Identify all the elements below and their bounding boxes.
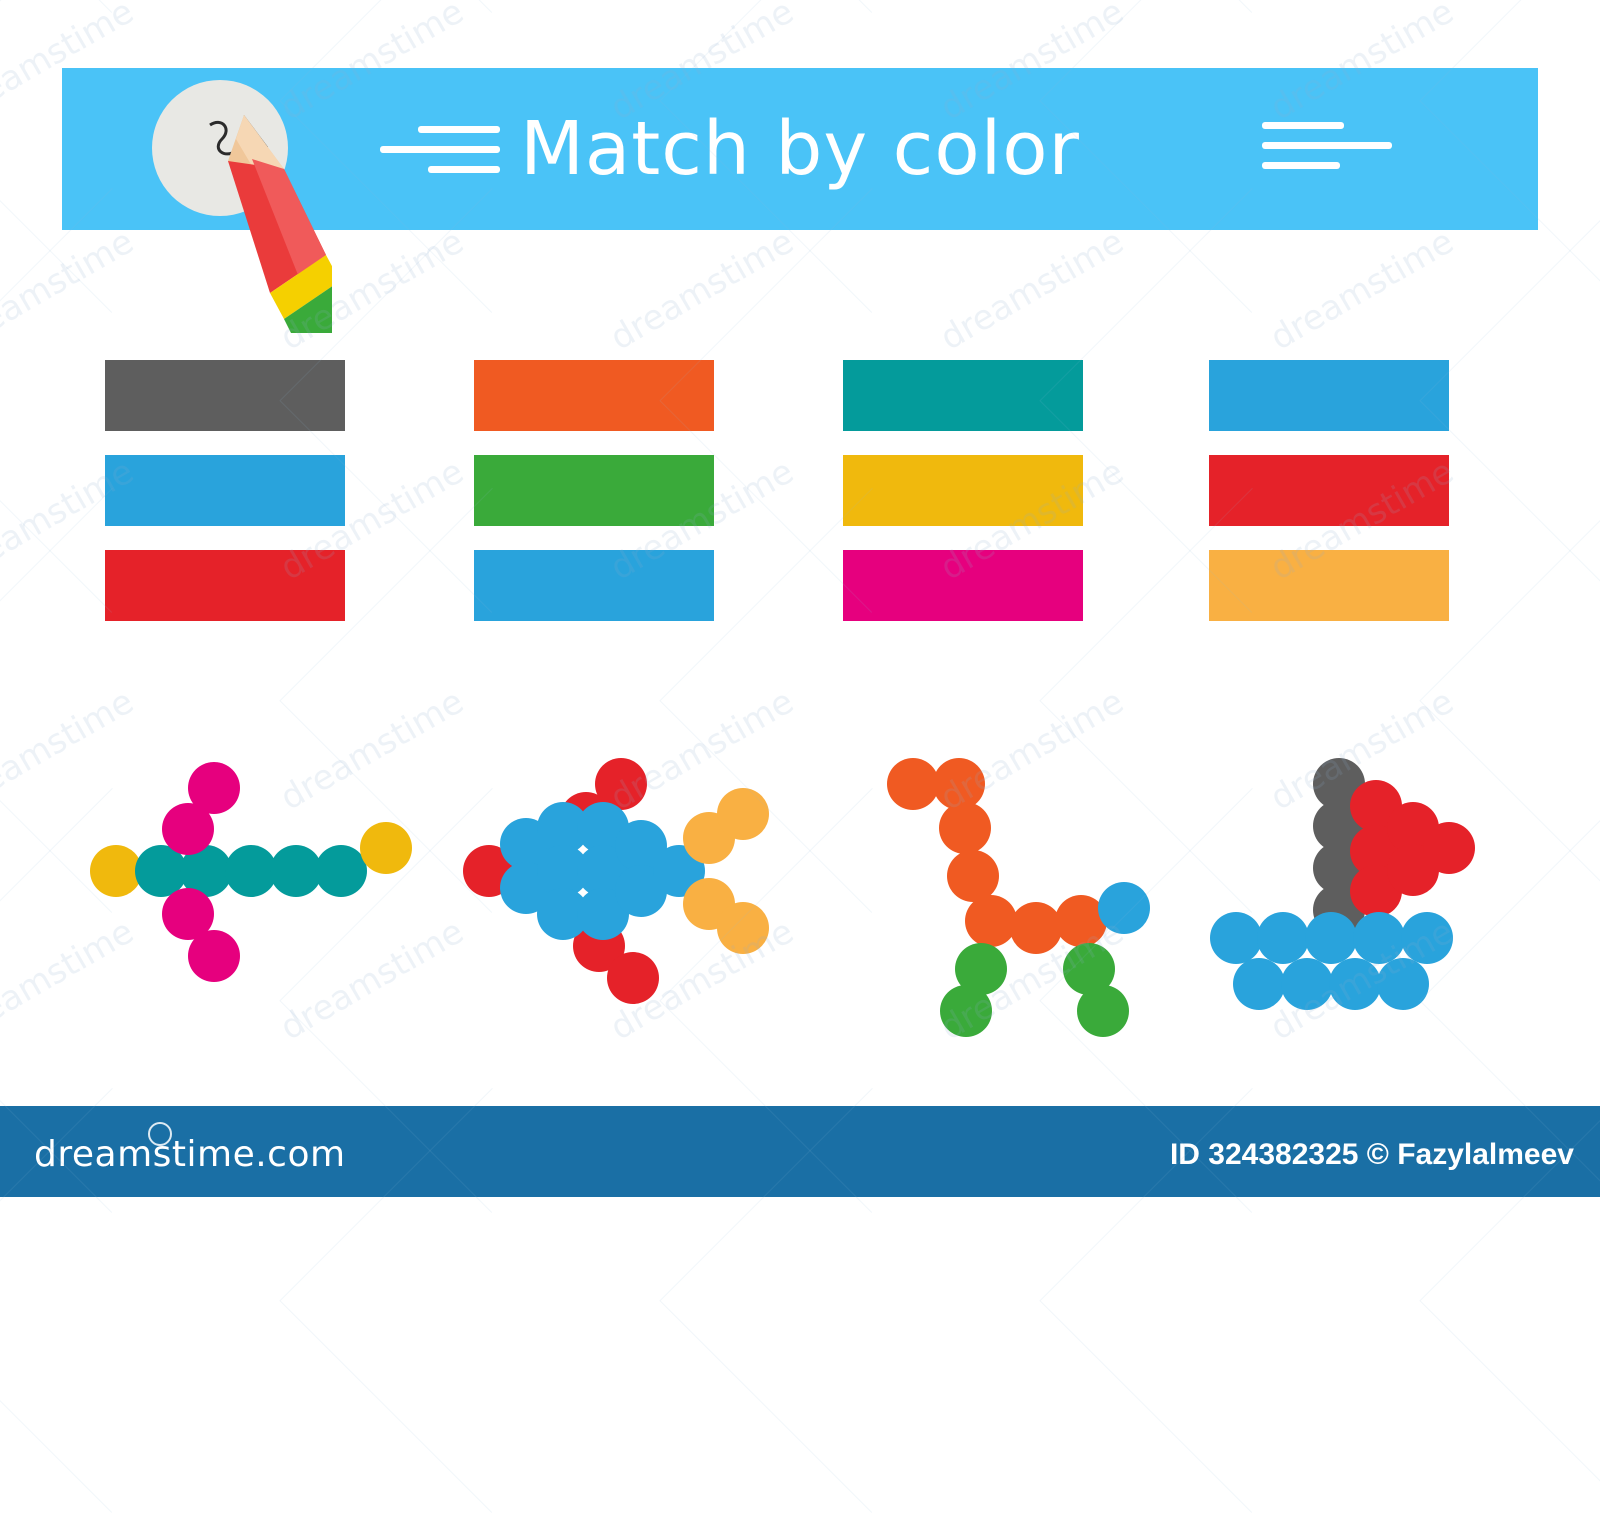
dot [360, 822, 412, 874]
swatch-group-1 [105, 360, 345, 645]
watermark-text: dreamstime [1264, 222, 1461, 359]
dot [188, 762, 240, 814]
header-banner: Match by color [62, 68, 1538, 230]
dot [1098, 882, 1150, 934]
color-bar-amber[interactable] [1209, 550, 1449, 621]
dot [1305, 912, 1357, 964]
watermark-line [1419, 0, 1600, 13]
dot [717, 788, 769, 840]
swatch-group-2 [474, 360, 714, 645]
color-bar-yellow[interactable] [843, 455, 1083, 526]
dot [887, 758, 939, 810]
color-bar-red[interactable] [105, 550, 345, 621]
dot [965, 895, 1017, 947]
watermark-line [659, 0, 872, 13]
color-bar-blue[interactable] [1209, 360, 1449, 431]
swatch-group-4 [1209, 360, 1449, 645]
dot [939, 802, 991, 854]
dot [1210, 912, 1262, 964]
color-bar-gray[interactable] [105, 360, 345, 431]
color-bar-red[interactable] [1209, 455, 1449, 526]
watermark-text: dreamstime [1594, 0, 1600, 128]
color-bar-orange[interactable] [474, 360, 714, 431]
dot [1377, 958, 1429, 1010]
dot [1329, 958, 1381, 1010]
dot-figure-airplane[interactable] [80, 740, 460, 1040]
dot-figure-giraffe[interactable] [855, 740, 1235, 1040]
watermark-line [0, 0, 112, 13]
watermark-line [279, 1300, 492, 1513]
watermark-text: dreamstime [934, 222, 1131, 359]
dot [1233, 958, 1285, 1010]
swatch-group-3 [843, 360, 1083, 645]
watermark-text: dreamstime [0, 222, 141, 359]
speedlines-right-icon [1262, 122, 1392, 169]
dot-figure-sailboat[interactable] [1195, 740, 1575, 1040]
watermark-line [1039, 1300, 1252, 1513]
color-bar-blue[interactable] [474, 550, 714, 621]
image-credit: ID 324382325 © Fazylalmeev [1170, 1138, 1574, 1172]
watermark-line [279, 0, 492, 13]
dot [1257, 912, 1309, 964]
dreamstime-logo: dreamstime.com [34, 1134, 346, 1175]
color-bar-magenta[interactable] [843, 550, 1083, 621]
watermark-text: dreamstime [1594, 222, 1600, 359]
dot [1281, 958, 1333, 1010]
dot [607, 952, 659, 1004]
dot [940, 985, 992, 1037]
watermark-text: dreamstime [604, 222, 801, 359]
dot [1401, 912, 1453, 964]
footer-bar: dreamstime.com ID 324382325 © Fazylalmee… [0, 1106, 1600, 1197]
dot-figure-area [0, 740, 1600, 1040]
watermark-line [0, 1300, 112, 1513]
color-bar-green[interactable] [474, 455, 714, 526]
color-swatch-area [0, 360, 1600, 650]
dot [1077, 985, 1129, 1037]
dot [717, 902, 769, 954]
watermark-line [1039, 0, 1252, 13]
watermark-line [1419, 1300, 1600, 1513]
color-bar-teal[interactable] [843, 360, 1083, 431]
dot [188, 930, 240, 982]
dot [315, 845, 367, 897]
color-bar-blue[interactable] [105, 455, 345, 526]
dot-figure-fish[interactable] [455, 740, 835, 1040]
dot [1353, 912, 1405, 964]
spiral-icon [148, 1122, 172, 1146]
watermark-line [659, 1300, 872, 1513]
dot [1423, 822, 1475, 874]
dot [1010, 902, 1062, 954]
